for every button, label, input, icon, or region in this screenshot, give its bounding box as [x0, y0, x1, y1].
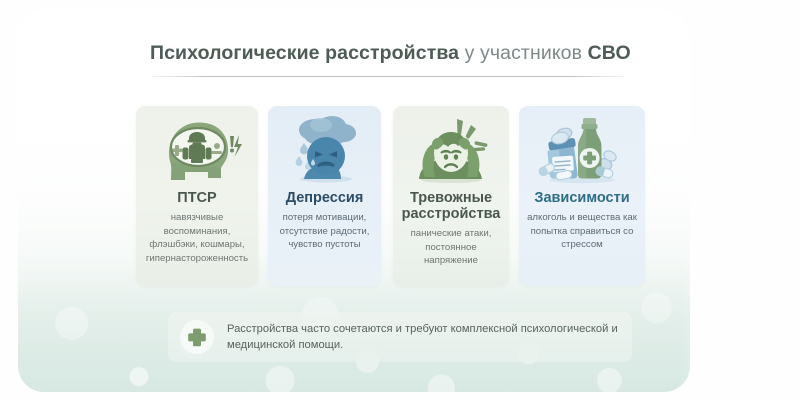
- disorder-card-list: ПТСР навязчивые воспоминания, флэшбэки, …: [136, 106, 650, 286]
- card-desc-addiction: алкоголь и вещества как попытка справить…: [519, 211, 645, 252]
- card-title-addiction: Зависимости: [534, 190, 629, 206]
- sad-face-raincloud-icon: [282, 110, 368, 188]
- title-divider: [150, 76, 626, 77]
- card-desc-ptsr: навязчивые воспоминания, флэшбэки, кошма…: [136, 211, 258, 265]
- card-ptsr[interactable]: ПТСР навязчивые воспоминания, флэшбэки, …: [136, 106, 258, 286]
- summary-note: Расстройства часто сочетаются и требуют …: [168, 312, 632, 362]
- title-part-strong-2: СВО: [588, 42, 631, 64]
- card-anxiety[interactable]: Тревожные расстройства панические атаки,…: [393, 106, 509, 286]
- title-part-light: у участников: [465, 42, 582, 64]
- page-title: Психологические расстройства у участнико…: [150, 40, 630, 66]
- stressed-person-exclamation-icon: [405, 110, 497, 188]
- card-title-depression: Депрессия: [286, 190, 364, 206]
- bottle-pills-icon: [534, 110, 630, 188]
- card-desc-depression: потеря мотивации, отсутствие радости, чу…: [268, 211, 381, 252]
- right-edge-fade: [680, 0, 800, 400]
- header: Психологические расстройства у участнико…: [150, 40, 630, 66]
- title-part-strong: Психологические расстройства: [150, 42, 459, 64]
- infographic-canvas: Психологические расстройства у участнико…: [0, 0, 800, 400]
- head-soldier-flashback-icon: [151, 110, 243, 188]
- card-desc-anxiety: панические атаки, постоянное напряжение: [393, 227, 509, 268]
- summary-note-text: Расстройства часто сочетаются и требуют …: [227, 321, 632, 354]
- medical-cross-icon: [180, 320, 214, 354]
- card-depression[interactable]: Депрессия потеря мотивации, отсутствие р…: [268, 106, 381, 286]
- card-title-anxiety: Тревожные расстройства: [393, 190, 509, 222]
- card-addiction[interactable]: Зависимости алкоголь и вещества как попы…: [519, 106, 645, 286]
- card-title-ptsr: ПТСР: [177, 190, 216, 206]
